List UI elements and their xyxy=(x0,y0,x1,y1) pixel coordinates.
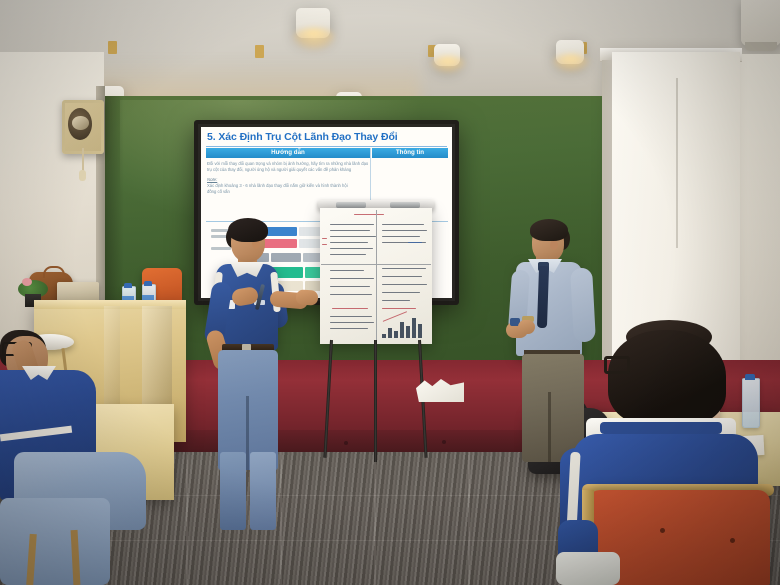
slide-grid-label xyxy=(211,235,227,238)
downlight-glow xyxy=(292,28,336,50)
tube-end-cap-icon xyxy=(108,41,117,54)
tube-end-cap-icon xyxy=(255,45,264,58)
eyeglasses-icon xyxy=(604,356,630,374)
bottle-cap xyxy=(144,281,152,286)
seated-left-lower-leg xyxy=(0,498,110,585)
photo-scene: 5. Xác Định Trụ Cột Lãnh Đạo Thay Đổi Hư… xyxy=(0,0,780,585)
slide-column-header-info: Thông tin xyxy=(372,148,448,158)
chair-upholstery-stud xyxy=(730,538,735,543)
seated-right-hair xyxy=(608,330,726,426)
slide-matrix-cell xyxy=(271,253,301,262)
slide-body-paragraph: Đối với mỗi thay đổi quan trọng và nhóm … xyxy=(207,161,369,172)
flipchart-vertical-divider xyxy=(376,210,377,342)
bottle-cap xyxy=(124,283,132,288)
fan-blade-icon xyxy=(72,116,89,130)
ceiling-speaker-base xyxy=(745,42,777,51)
flipchart-horizontal-divider xyxy=(321,264,431,265)
downlight-glow xyxy=(552,54,590,72)
standing-attendee-arm-right xyxy=(570,267,596,342)
collar-inner-band xyxy=(600,422,722,434)
fan-pull-cord[interactable] xyxy=(82,148,84,172)
jeans-seam xyxy=(246,396,249,470)
presenter-leg xyxy=(250,452,276,530)
presenter-hair xyxy=(228,218,268,242)
standing-attendee-ear xyxy=(550,240,558,250)
slide-title-rule xyxy=(206,146,447,147)
fan-cord-knob[interactable] xyxy=(79,170,86,181)
ceiling-speaker xyxy=(741,0,780,46)
bag-handle xyxy=(43,266,65,278)
presenter-hand-right xyxy=(296,289,319,305)
standing-attendee-hand-right xyxy=(518,320,535,334)
stage-stud xyxy=(344,441,348,445)
slide-grid-label xyxy=(211,247,231,250)
water-bottle[interactable] xyxy=(742,378,760,428)
downlight-glow xyxy=(430,56,466,73)
flower xyxy=(22,278,32,286)
standing-attendee-hair xyxy=(530,219,568,241)
flipchart-bar-chart-sketch xyxy=(382,314,426,338)
presenter-leg xyxy=(220,452,246,530)
seated-right-lap xyxy=(556,552,620,585)
stage-stud xyxy=(442,440,446,444)
chair-upholstery-stud xyxy=(660,528,665,533)
column-seam xyxy=(676,78,678,248)
easel-leg xyxy=(374,340,377,462)
trouser-seam xyxy=(548,392,551,462)
slide-note-text: Xác định khoảng 3 - 6 nhà lãnh đạo thay … xyxy=(207,183,357,194)
slide-note-label: Note: xyxy=(207,177,217,182)
slide-title: 5. Xác Định Trụ Cột Lãnh Đạo Thay Đổi xyxy=(207,131,445,143)
slide-column-header-guidance: Hướng dẫn xyxy=(206,148,370,158)
bottle-cap xyxy=(745,374,755,380)
right-wall xyxy=(736,54,780,402)
